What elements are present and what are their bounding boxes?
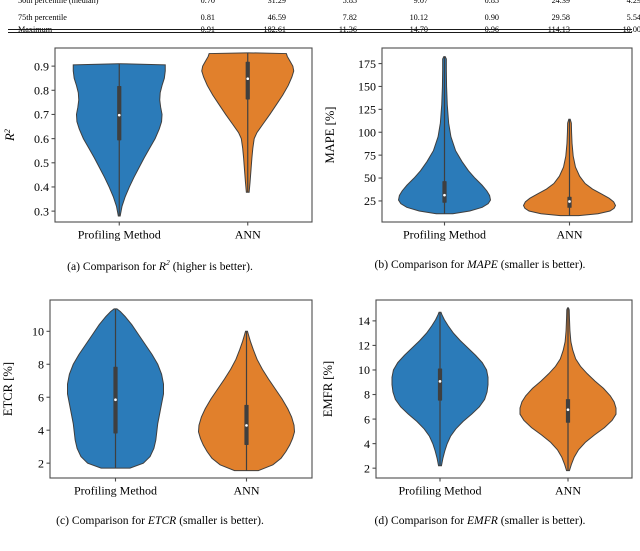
boxplot-median-marker: [246, 77, 249, 80]
x-tick-label-profiling-method: Profiling Method: [399, 484, 482, 498]
caption-metric: R: [159, 260, 166, 273]
plot-area-c: 246810ETCR [%]Profiling MethodANN: [0, 286, 320, 514]
table-cell: 4.29: [580, 0, 640, 7]
y-tick-label: 8: [364, 388, 370, 402]
caption-b: (b) Comparison for MAPE (smaller is bett…: [375, 258, 586, 271]
caption-prefix: (c) Comparison for: [56, 514, 145, 527]
table-cell: 5.85: [296, 0, 367, 7]
boxplot-median-marker: [443, 194, 446, 197]
y-tick-label: 100: [358, 125, 376, 139]
caption-suffix: (smaller is better).: [179, 514, 264, 527]
table-cell: 0.90: [438, 12, 509, 24]
caption-suffix: (smaller is better).: [501, 258, 586, 271]
table-row-label: 50th percentile (median): [8, 0, 154, 7]
caption-metric: MAPE: [467, 258, 498, 271]
y-tick-label: 10: [32, 325, 44, 339]
svg-text:MAPE [%]: MAPE [%]: [323, 106, 337, 163]
table-cell: 0.85: [438, 0, 509, 7]
table-cell: 10.12: [367, 12, 438, 24]
svg-text:ETCR [%]: ETCR [%]: [1, 362, 15, 416]
y-tick-label: 2: [38, 456, 44, 470]
boxplot-iqr-box: [246, 62, 250, 100]
x-tick-label-ann: ANN: [557, 228, 583, 242]
y-tick-label: 4: [364, 437, 370, 451]
table-cell: 5.54: [580, 12, 640, 24]
boxplot-iqr-box: [442, 181, 446, 203]
boxplot-median-marker: [439, 380, 442, 383]
table-cell: 0.81: [154, 12, 225, 24]
table-row-label: 75th percentile: [8, 12, 154, 24]
y-tick-label: 6: [364, 412, 370, 426]
subfigure-a: 0.30.40.50.60.70.80.9R2Profiling MethodA…: [0, 36, 320, 286]
violin-chart-emfr: 2468101214EMFR [%]Profiling MethodANN: [320, 286, 640, 514]
svg-text:EMFR [%]: EMFR [%]: [321, 361, 335, 417]
boxplot-median-marker: [245, 424, 248, 427]
y-tick-label: 175: [358, 57, 376, 71]
subfigure-c: 246810ETCR [%]Profiling MethodANN (c) Co…: [0, 286, 320, 547]
boxplot-median-marker: [567, 408, 570, 411]
statistics-table-fragment: 50th percentile (median) 0.70 31.29 5.85…: [0, 0, 640, 36]
table-cell: 0.70: [154, 0, 225, 7]
y-tick-label: 0.9: [34, 59, 49, 73]
boxplot-iqr-box: [117, 86, 121, 140]
table-cell: 46.59: [225, 12, 296, 24]
violin-chart-etcr: 246810ETCR [%]Profiling MethodANN: [0, 286, 320, 514]
y-tick-label: 4: [38, 423, 44, 437]
boxplot-median-marker: [568, 200, 571, 203]
caption-c: (c) Comparison for ETCR (smaller is bett…: [56, 514, 264, 527]
y-tick-label: 10: [358, 363, 370, 377]
violin-figure-grid: 0.30.40.50.60.70.80.9R2Profiling MethodA…: [0, 36, 640, 547]
statistics-table: 50th percentile (median) 0.70 31.29 5.85…: [8, 0, 640, 36]
caption-metric-exponent: 2: [166, 258, 170, 267]
table-cell: 24.39: [509, 0, 580, 7]
table-row: 50th percentile (median) 0.70 31.29 5.85…: [8, 0, 640, 7]
statistics-table-body: 50th percentile (median) 0.70 31.29 5.85…: [8, 0, 640, 36]
boxplot-median-marker: [114, 398, 117, 401]
table-cell: 9.07: [367, 0, 438, 7]
caption-prefix: (a) Comparison for: [67, 260, 156, 273]
caption-prefix: (b) Comparison for: [375, 258, 465, 271]
y-tick-label: 0.3: [34, 204, 49, 218]
y-tick-label: 150: [358, 80, 376, 94]
plot-area-d: 2468101214EMFR [%]Profiling MethodANN: [320, 286, 640, 514]
x-tick-label-ann: ANN: [234, 484, 260, 498]
x-tick-label-profiling-method: Profiling Method: [74, 484, 157, 498]
table-cell: 7.82: [296, 12, 367, 24]
plot-area-a: 0.30.40.50.60.70.80.9R2Profiling MethodA…: [0, 36, 320, 258]
subfigure-b: 255075100125150175MAPE [%]Profiling Meth…: [320, 36, 640, 286]
y-axis-label: ETCR [%]: [1, 362, 15, 416]
caption-a: (a) Comparison for R2 (higher is better)…: [67, 258, 253, 273]
y-tick-label: 8: [38, 357, 44, 371]
y-axis-label: EMFR [%]: [321, 361, 335, 417]
y-axis-label: R2: [3, 129, 17, 142]
y-tick-label: 2: [364, 461, 370, 475]
table-row: 75th percentile 0.81 46.59 7.82 10.12 0.…: [8, 12, 640, 24]
y-tick-label: 25: [364, 194, 376, 208]
caption-prefix: (d) Comparison for: [375, 514, 465, 527]
y-tick-label: 50: [364, 171, 376, 185]
y-axis-label: MAPE [%]: [323, 106, 337, 163]
svg-text:R2: R2: [3, 129, 17, 142]
x-tick-label-ann: ANN: [235, 228, 261, 242]
y-tick-label: 0.4: [34, 180, 49, 194]
y-tick-label: 0.5: [34, 156, 49, 170]
subfigure-d: 2468101214EMFR [%]Profiling MethodANN (d…: [320, 286, 640, 547]
y-tick-label: 14: [358, 314, 370, 328]
caption-d: (d) Comparison for EMFR (smaller is bett…: [375, 514, 586, 527]
y-tick-label: 0.6: [34, 132, 49, 146]
violin-chart-r2: 0.30.40.50.60.70.80.9R2Profiling MethodA…: [0, 36, 320, 258]
table-cell: 29.58: [509, 12, 580, 24]
caption-metric: EMFR: [467, 514, 498, 527]
table-cell: 31.29: [225, 0, 296, 7]
y-tick-label: 125: [358, 103, 376, 117]
plot-area-b: 255075100125150175MAPE [%]Profiling Meth…: [320, 36, 640, 258]
y-tick-label: 75: [364, 148, 376, 162]
boxplot-median-marker: [118, 114, 121, 117]
y-tick-label: 12: [358, 339, 370, 353]
x-tick-label-ann: ANN: [555, 484, 581, 498]
x-tick-label-profiling-method: Profiling Method: [403, 228, 486, 242]
caption-suffix: (higher is better).: [173, 260, 253, 273]
x-tick-label-profiling-method: Profiling Method: [78, 228, 161, 242]
table-bottom-rule-lower: [8, 32, 632, 33]
y-tick-label: 0.7: [34, 108, 49, 122]
boxplot-iqr-box: [438, 368, 442, 400]
table-bottom-rule-upper: [8, 29, 632, 30]
violin-chart-mape: 255075100125150175MAPE [%]Profiling Meth…: [320, 36, 640, 258]
y-tick-label: 6: [38, 390, 44, 404]
caption-suffix: (smaller is better).: [501, 514, 586, 527]
caption-metric: ETCR: [148, 514, 176, 527]
y-tick-label: 0.8: [34, 83, 49, 97]
